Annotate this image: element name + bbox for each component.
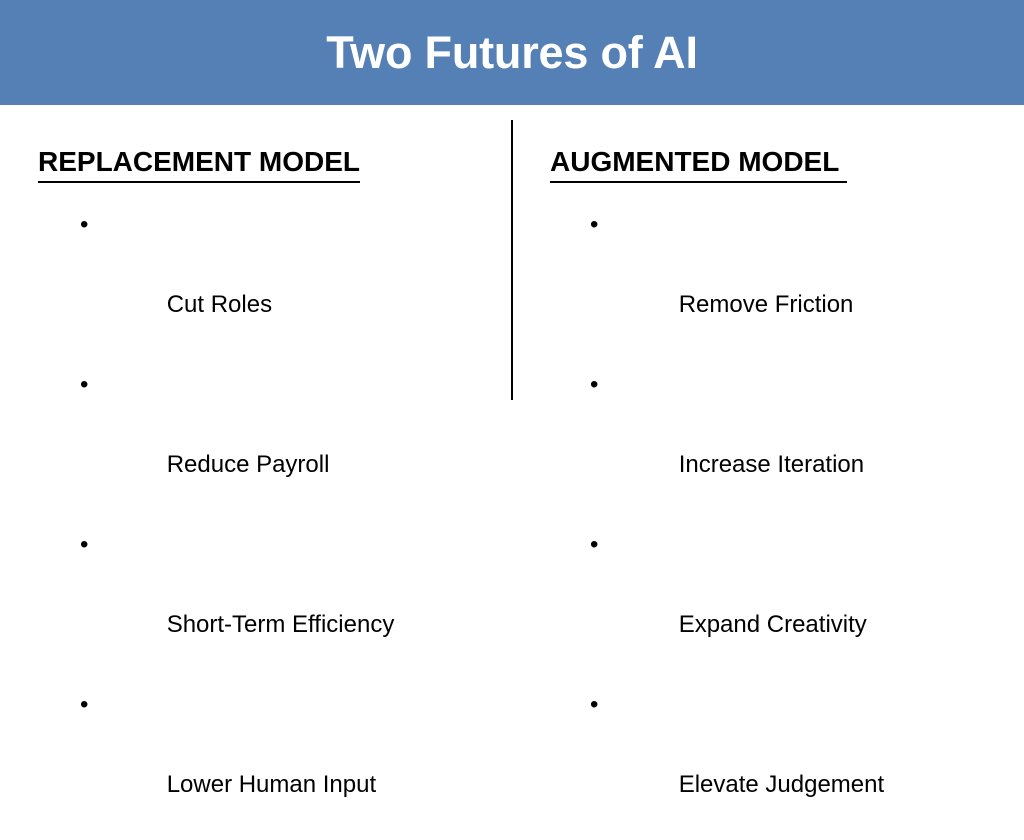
bullet-dot-icon: • bbox=[590, 685, 598, 725]
bullet-dot-icon: • bbox=[590, 525, 598, 565]
column-replacement-model: REPLACEMENT MODEL • Cut Roles • Reduce P… bbox=[38, 105, 488, 420]
list-item-label: Remove Friction bbox=[679, 291, 854, 318]
bullet-dot-icon: • bbox=[80, 205, 88, 245]
column-heading-augmented: AUGMENTED MODEL bbox=[550, 145, 847, 183]
list-item: • Expand Creativity bbox=[550, 525, 884, 685]
column-augmented-model: AUGMENTED MODEL • Remove Friction • Incr… bbox=[550, 105, 1000, 420]
list-item-label: Elevate Judgement bbox=[679, 771, 884, 798]
list-item: • Cut Roles bbox=[38, 205, 394, 365]
bullet-dot-icon: • bbox=[590, 205, 598, 245]
list-item: • Reduce Payroll bbox=[38, 365, 394, 525]
page-title: Two Futures of AI bbox=[326, 30, 698, 75]
title-banner: Two Futures of AI bbox=[0, 0, 1024, 105]
list-item: • Elevate Judgement bbox=[550, 685, 884, 840]
bullet-dot-icon: • bbox=[590, 365, 598, 405]
bullet-dot-icon: • bbox=[80, 365, 88, 405]
content-area: REPLACEMENT MODEL • Cut Roles • Reduce P… bbox=[0, 105, 1024, 420]
list-item: • Remove Friction bbox=[550, 205, 884, 365]
list-item-label: Lower Human Input bbox=[167, 771, 376, 798]
column-divider bbox=[511, 120, 513, 400]
list-item: • Short-Term Efficiency bbox=[38, 525, 394, 685]
list-item: • Increase Iteration bbox=[550, 365, 884, 525]
bullet-list-replacement: • Cut Roles • Reduce Payroll • Short-Ter… bbox=[38, 205, 394, 840]
bullet-dot-icon: • bbox=[80, 525, 88, 565]
column-heading-replacement: REPLACEMENT MODEL bbox=[38, 145, 360, 183]
list-item-label: Increase Iteration bbox=[679, 451, 864, 478]
list-item-label: Short-Term Efficiency bbox=[167, 611, 395, 638]
bullet-list-augmented: • Remove Friction • Increase Iteration •… bbox=[550, 205, 884, 840]
list-item-label: Reduce Payroll bbox=[167, 451, 330, 478]
bullet-dot-icon: • bbox=[80, 685, 88, 725]
list-item-label: Expand Creativity bbox=[679, 611, 867, 638]
list-item-label: Cut Roles bbox=[167, 291, 272, 318]
slide-canvas: Two Futures of AI REPLACEMENT MODEL • Cu… bbox=[0, 0, 1024, 420]
list-item: • Lower Human Input bbox=[38, 685, 394, 840]
